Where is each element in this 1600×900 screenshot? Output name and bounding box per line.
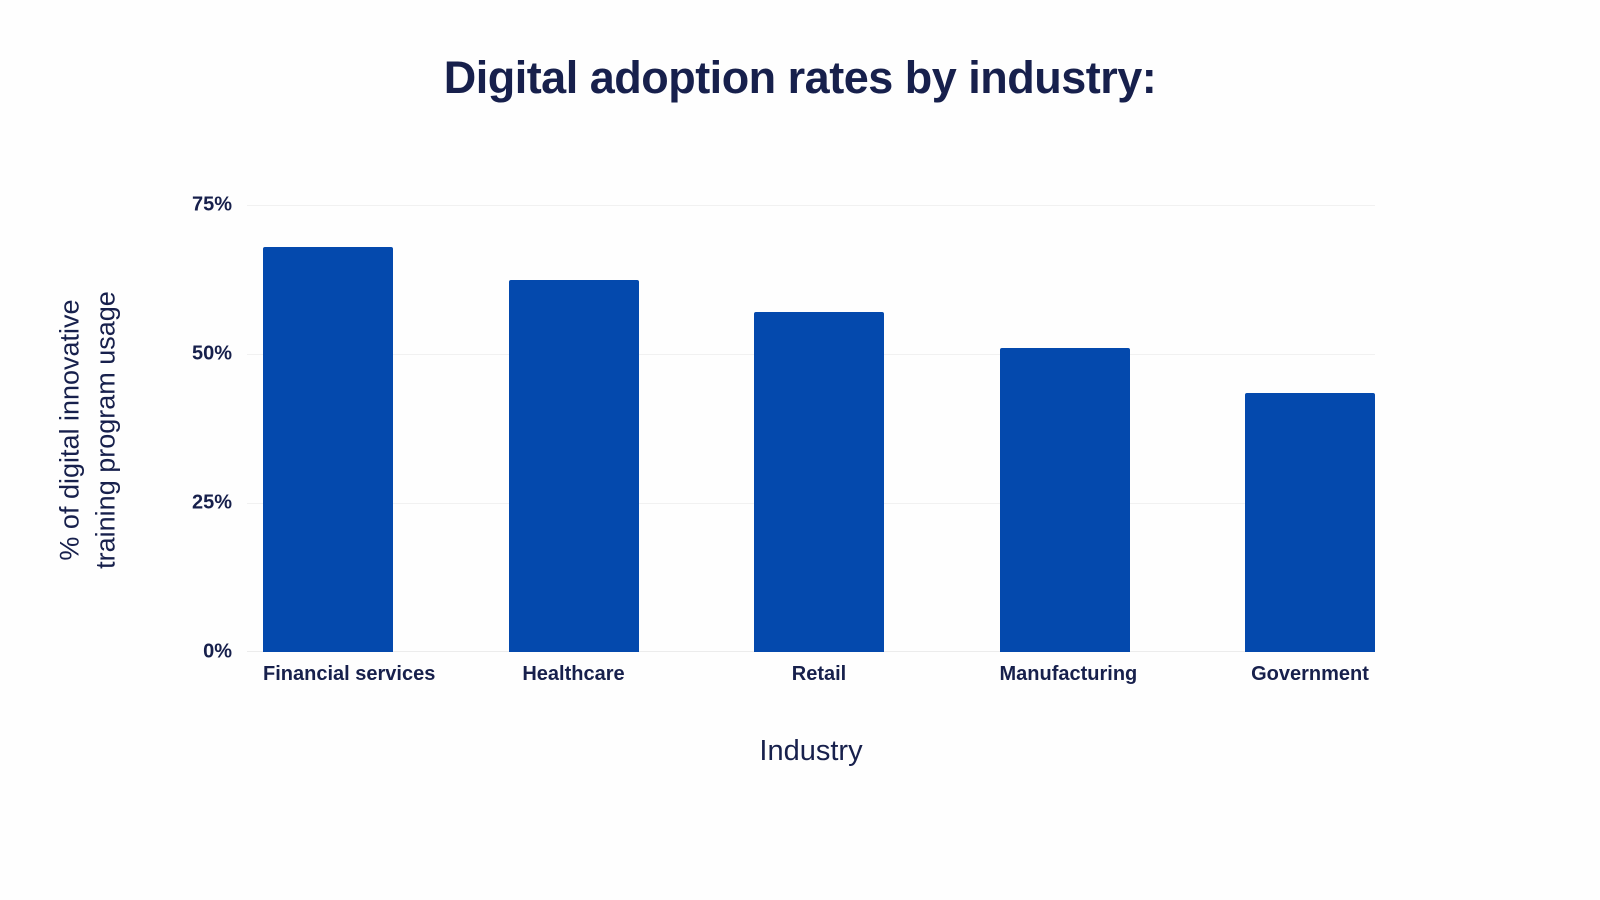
bar-slot-healthcare [509,205,639,652]
x-axis-tick-manufacturing: Manufacturing [1000,663,1130,686]
x-axis-tick-financial-services: Financial services [263,663,393,686]
bar-slot-financial-services [263,205,393,652]
y-axis-tick-50: 50% [192,343,232,366]
bar-manufacturing[interactable] [1000,348,1130,652]
bars-layer [263,205,1375,652]
chart-title: Digital adoption rates by industry: [0,52,1600,104]
x-axis-tick-labels: Financial services Healthcare Retail Man… [263,663,1375,686]
y-axis-title: % of digital innovative training program… [0,0,175,900]
y-axis-tick-75: 75% [192,194,232,217]
chart-figure: Digital adoption rates by industry: % of… [0,0,1600,900]
y-axis-title-line-2: training program usage [88,291,124,569]
y-axis-tick-25: 25% [192,492,232,515]
bar-slot-retail [754,205,884,652]
bar-retail[interactable] [754,312,884,652]
bar-financial-services[interactable] [263,247,393,652]
x-axis-tick-government: Government [1245,663,1375,686]
bar-slot-manufacturing [1000,205,1130,652]
x-axis-tick-retail: Retail [754,663,884,686]
plot-area [247,205,1375,652]
y-axis-tick-0: 0% [203,641,232,664]
x-axis-tick-healthcare: Healthcare [509,663,639,686]
bar-healthcare[interactable] [509,280,639,653]
bar-slot-government [1245,205,1375,652]
y-axis-title-line-1: % of digital innovative [52,291,88,569]
x-axis-title: Industry [247,735,1375,768]
bar-government[interactable] [1245,393,1375,652]
